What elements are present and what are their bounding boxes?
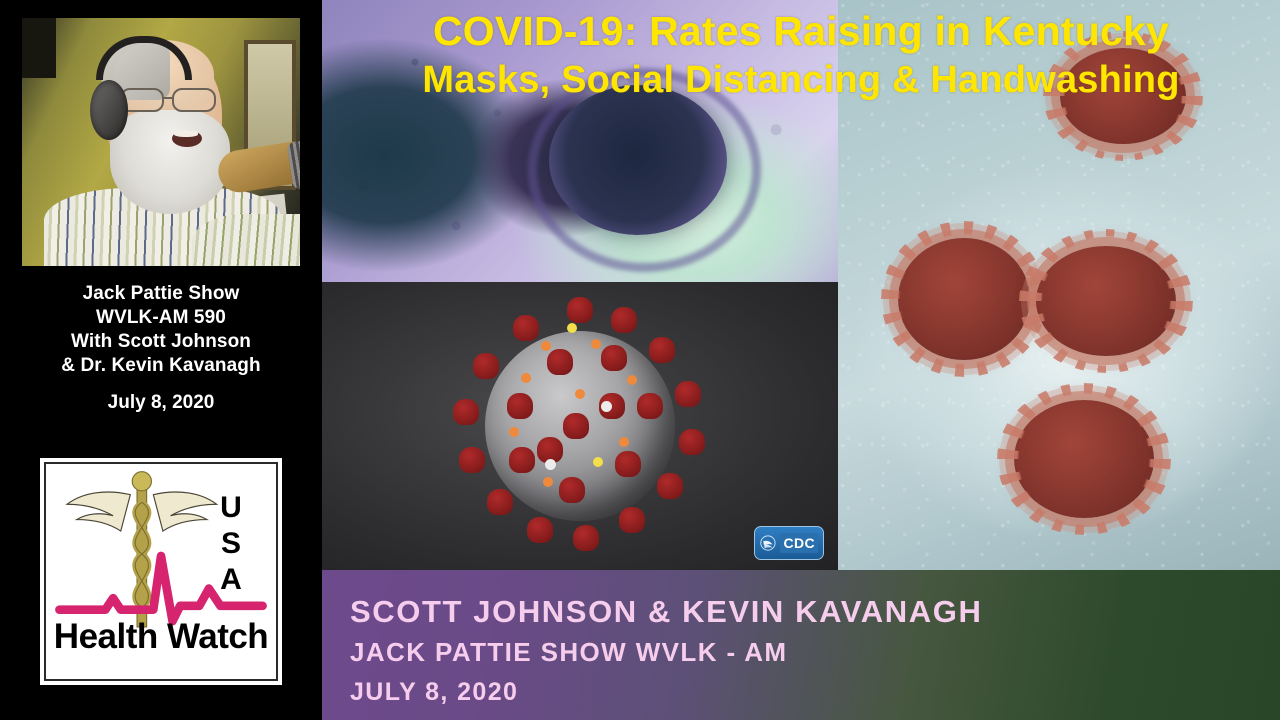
coronavirus-particle <box>1014 400 1154 518</box>
show-info-block: Jack Pattie Show WVLK-AM 590 With Scott … <box>0 282 322 414</box>
lower-third-caption: SCOTT JOHNSON & KEVIN KAVANAGH JACK PATT… <box>322 570 1280 720</box>
spike-protein <box>649 337 675 363</box>
spike-protein <box>615 451 641 477</box>
show-line-3: With Scott Johnson <box>0 330 322 354</box>
spike-corona <box>997 383 1171 535</box>
cdc-label: CDC <box>780 533 818 553</box>
host-glasses <box>120 88 224 114</box>
membrane-protein <box>543 477 553 487</box>
envelope-protein <box>567 323 577 333</box>
photo-background <box>22 18 300 266</box>
host-shirt-shoulder <box>192 214 300 266</box>
spike-protein <box>527 517 553 543</box>
coronavirus-particle <box>898 238 1030 360</box>
logo-inner-border: U S A Health Watch <box>44 462 278 681</box>
radio-host-photo <box>22 18 300 266</box>
coronavirus-model <box>451 297 709 555</box>
spike-protein <box>675 381 701 407</box>
membrane-protein <box>619 437 629 447</box>
membrane-protein <box>627 375 637 385</box>
spike-protein <box>487 489 513 515</box>
show-line-1: Jack Pattie Show <box>0 282 322 306</box>
spike-corona <box>1043 31 1203 161</box>
spike-protein <box>563 413 589 439</box>
logo-name: Health Watch <box>46 617 276 657</box>
spike-protein <box>611 307 637 333</box>
spike-protein <box>513 315 539 341</box>
membrane-protein <box>521 373 531 383</box>
virus-particle <box>549 85 727 235</box>
membrane-protein <box>509 427 519 437</box>
caption-speakers: SCOTT JOHNSON & KEVIN KAVANAGH <box>350 592 1280 632</box>
host-teeth <box>174 130 198 137</box>
spike-protein <box>507 393 533 419</box>
hhs-eagle-icon <box>760 531 777 555</box>
spike-protein <box>601 345 627 371</box>
virus-micrograph-purple-panel <box>322 0 838 282</box>
sars-cov-2-illustration-panel: CDC <box>322 282 838 570</box>
usa-letters: U S A <box>212 490 250 598</box>
spike-protein <box>559 477 585 503</box>
show-line-2: WVLK-AM 590 <box>0 306 322 330</box>
spike-protein <box>573 525 599 551</box>
spike-protein <box>619 507 645 533</box>
headphones-earcup <box>90 80 128 140</box>
membrane-protein <box>575 389 585 399</box>
usa-letter-s: S <box>212 526 250 562</box>
coronavirus-particle <box>1036 246 1176 356</box>
caption-show: JACK PATTIE SHOW WVLK - AM <box>350 632 1280 672</box>
slide-root: Jack Pattie Show WVLK-AM 590 With Scott … <box>0 0 1280 720</box>
caption-date: JULY 8, 2020 <box>350 672 1280 712</box>
spike-protein <box>459 447 485 473</box>
usa-letter-a: A <box>212 562 250 598</box>
left-sidebar: Jack Pattie Show WVLK-AM 590 With Scott … <box>0 0 322 720</box>
hemagglutinin-protein <box>545 459 556 470</box>
membrane-protein <box>591 339 601 349</box>
glasses-lens-right <box>172 88 216 112</box>
spike-protein <box>473 353 499 379</box>
coronavirus-particle <box>1060 48 1186 144</box>
spike-protein <box>657 473 683 499</box>
spike-protein <box>637 393 663 419</box>
coronavirus-micrograph-blue-panel <box>838 0 1280 570</box>
usa-letter-u: U <box>212 490 250 526</box>
spike-protein <box>567 297 593 323</box>
spike-corona <box>1019 229 1193 373</box>
glasses-bridge <box>164 97 174 99</box>
show-line-4: & Dr. Kevin Kavanagh <box>0 354 322 378</box>
membrane-protein <box>541 341 551 351</box>
spike-protein <box>679 429 705 455</box>
wall-dark-panel <box>22 18 56 78</box>
spike-protein <box>509 447 535 473</box>
spike-protein <box>453 399 479 425</box>
cdc-logo-badge: CDC <box>754 526 824 560</box>
spike-protein <box>547 349 573 375</box>
envelope-protein <box>593 457 603 467</box>
usa-health-watch-logo: U S A Health Watch <box>37 455 285 688</box>
show-date: July 8, 2020 <box>0 392 322 414</box>
host-beard <box>110 110 230 214</box>
hemagglutinin-protein <box>601 401 612 412</box>
